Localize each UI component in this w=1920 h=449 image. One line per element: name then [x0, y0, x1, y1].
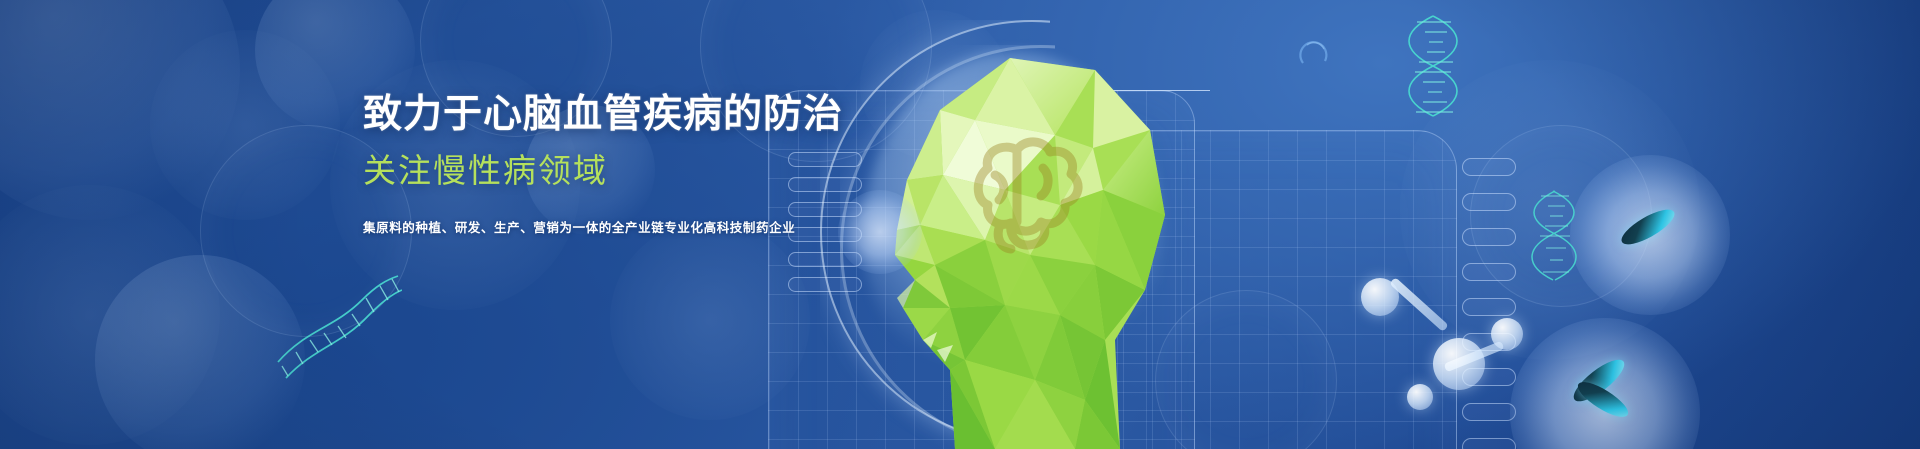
bokeh-circle — [0, 0, 240, 220]
bokeh-circle — [150, 30, 340, 220]
bokeh-circle — [0, 185, 220, 445]
cell-with-bacterium — [1570, 155, 1730, 315]
hero-copy-block: 致力于心脑血管疾病的防治 关注慢性病领域 集原料的种植、研发、生产、营销为一体的… — [363, 92, 923, 236]
page-subtitle: 关注慢性病领域 — [363, 151, 923, 191]
headline-accent: 心脑血管疾病 — [483, 93, 723, 136]
hud-pill — [1462, 158, 1516, 176]
hud-pill — [1462, 228, 1516, 246]
headline-tail: 的防治 — [723, 93, 843, 136]
molecule-node — [1433, 338, 1485, 390]
bokeh-circle — [95, 255, 305, 449]
molecule-node — [1361, 278, 1399, 316]
bacterium — [1617, 203, 1679, 250]
molecule-node — [1407, 384, 1433, 410]
page-title: 致力于心脑血管疾病的防治 — [363, 92, 923, 138]
page-caption: 集原料的种植、研发、生产、营销为一体的全产业链专业化高科技制药企业 — [363, 217, 923, 236]
headline-lead: 致力于 — [363, 93, 483, 136]
hud-pill — [1462, 438, 1516, 449]
dna-double-helix-bottom-left — [272, 270, 402, 385]
hud-pill — [1462, 193, 1516, 211]
ring-sketch-icon — [1295, 35, 1335, 75]
pharma-hero-banner: 致力于心脑血管疾病的防治 关注慢性病领域 集原料的种植、研发、生产、营销为一体的… — [0, 0, 1920, 449]
dna-double-helix-top — [1395, 12, 1475, 122]
cell-with-bacterium — [1510, 318, 1700, 449]
molecule-cluster — [1355, 260, 1535, 420]
molecule-bond — [1389, 277, 1449, 332]
